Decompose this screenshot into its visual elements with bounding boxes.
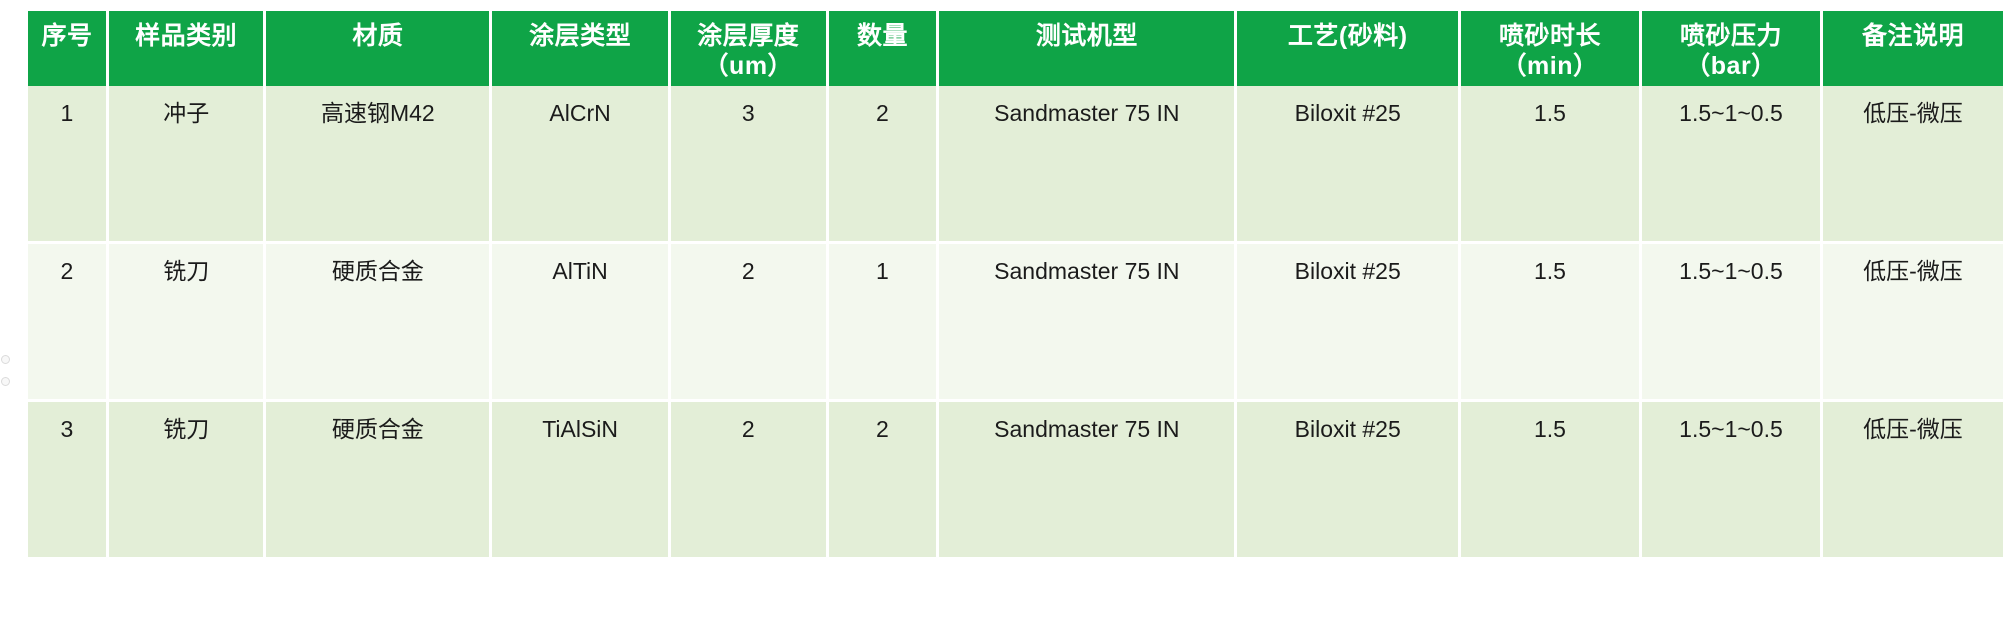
cell-process_media[interactable]: Biloxit #25 [1237, 86, 1461, 244]
column-header-quantity[interactable]: 数量 [829, 11, 940, 86]
column-header-blast_time[interactable]: 喷砂时长 （min） [1461, 11, 1642, 86]
cell-blast_pressure[interactable]: 1.5~1~0.5 [1642, 86, 1823, 244]
cell-remark[interactable]: 低压-微压 [1823, 244, 2003, 402]
column-header-blast_pressure[interactable]: 喷砂压力 （bar） [1642, 11, 1823, 86]
cell-test_machine[interactable]: Sandmaster 75 IN [939, 244, 1237, 402]
table-header: 序号样品类别材质涂层类型涂层厚度 （um）数量测试机型工艺(砂料)喷砂时长 （m… [28, 11, 2003, 86]
cell-blast_time[interactable]: 1.5 [1461, 402, 1642, 560]
column-header-material[interactable]: 材质 [266, 11, 492, 86]
cell-coating_type[interactable]: AlTiN [492, 244, 671, 402]
table-row[interactable]: 3铣刀硬质合金TiAlSiN22Sandmaster 75 INBiloxit … [28, 402, 2003, 560]
column-header-coating_type[interactable]: 涂层类型 [492, 11, 671, 86]
cell-quantity[interactable]: 2 [829, 402, 940, 560]
document-canvas: 序号样品类别材质涂层类型涂层厚度 （um）数量测试机型工艺(砂料)喷砂时长 （m… [0, 0, 2015, 637]
cell-blast_pressure[interactable]: 1.5~1~0.5 [1642, 402, 1823, 560]
sample-parameter-table: 序号样品类别材质涂层类型涂层厚度 （um）数量测试机型工艺(砂料)喷砂时长 （m… [28, 11, 2003, 560]
column-header-remark[interactable]: 备注说明 [1823, 11, 2003, 86]
cell-index[interactable]: 2 [28, 244, 109, 402]
cell-blast_time[interactable]: 1.5 [1461, 244, 1642, 402]
cell-coating_thick[interactable]: 3 [671, 86, 829, 244]
left-margin-marker-1 [1, 355, 10, 364]
cell-blast_pressure[interactable]: 1.5~1~0.5 [1642, 244, 1823, 402]
left-margin-marker-2 [1, 377, 10, 386]
cell-quantity[interactable]: 2 [829, 86, 940, 244]
cell-test_machine[interactable]: Sandmaster 75 IN [939, 402, 1237, 560]
column-header-index[interactable]: 序号 [28, 11, 109, 86]
cell-index[interactable]: 1 [28, 86, 109, 244]
column-header-test_machine[interactable]: 测试机型 [939, 11, 1237, 86]
cell-material[interactable]: 硬质合金 [266, 402, 492, 560]
cell-sample_type[interactable]: 铣刀 [109, 402, 267, 560]
cell-blast_time[interactable]: 1.5 [1461, 86, 1642, 244]
cell-remark[interactable]: 低压-微压 [1823, 86, 2003, 244]
column-header-coating_thick[interactable]: 涂层厚度 （um） [671, 11, 829, 86]
cell-process_media[interactable]: Biloxit #25 [1237, 244, 1461, 402]
cell-material[interactable]: 硬质合金 [266, 244, 492, 402]
cell-sample_type[interactable]: 铣刀 [109, 244, 267, 402]
cell-coating_thick[interactable]: 2 [671, 244, 829, 402]
cell-coating_type[interactable]: TiAlSiN [492, 402, 671, 560]
cell-material[interactable]: 高速钢M42 [266, 86, 492, 244]
cell-quantity[interactable]: 1 [829, 244, 940, 402]
table-row[interactable]: 2铣刀硬质合金AlTiN21Sandmaster 75 INBiloxit #2… [28, 244, 2003, 402]
cell-coating_type[interactable]: AlCrN [492, 86, 671, 244]
cell-coating_thick[interactable]: 2 [671, 402, 829, 560]
cell-remark[interactable]: 低压-微压 [1823, 402, 2003, 560]
cell-process_media[interactable]: Biloxit #25 [1237, 402, 1461, 560]
table-row[interactable]: 1冲子高速钢M42AlCrN32Sandmaster 75 INBiloxit … [28, 86, 2003, 244]
table-body: 1冲子高速钢M42AlCrN32Sandmaster 75 INBiloxit … [28, 86, 2003, 560]
cell-sample_type[interactable]: 冲子 [109, 86, 267, 244]
column-header-sample_type[interactable]: 样品类别 [109, 11, 267, 86]
column-header-process_media[interactable]: 工艺(砂料) [1237, 11, 1461, 86]
cell-index[interactable]: 3 [28, 402, 109, 560]
table-header-row: 序号样品类别材质涂层类型涂层厚度 （um）数量测试机型工艺(砂料)喷砂时长 （m… [28, 11, 2003, 86]
cell-test_machine[interactable]: Sandmaster 75 IN [939, 86, 1237, 244]
